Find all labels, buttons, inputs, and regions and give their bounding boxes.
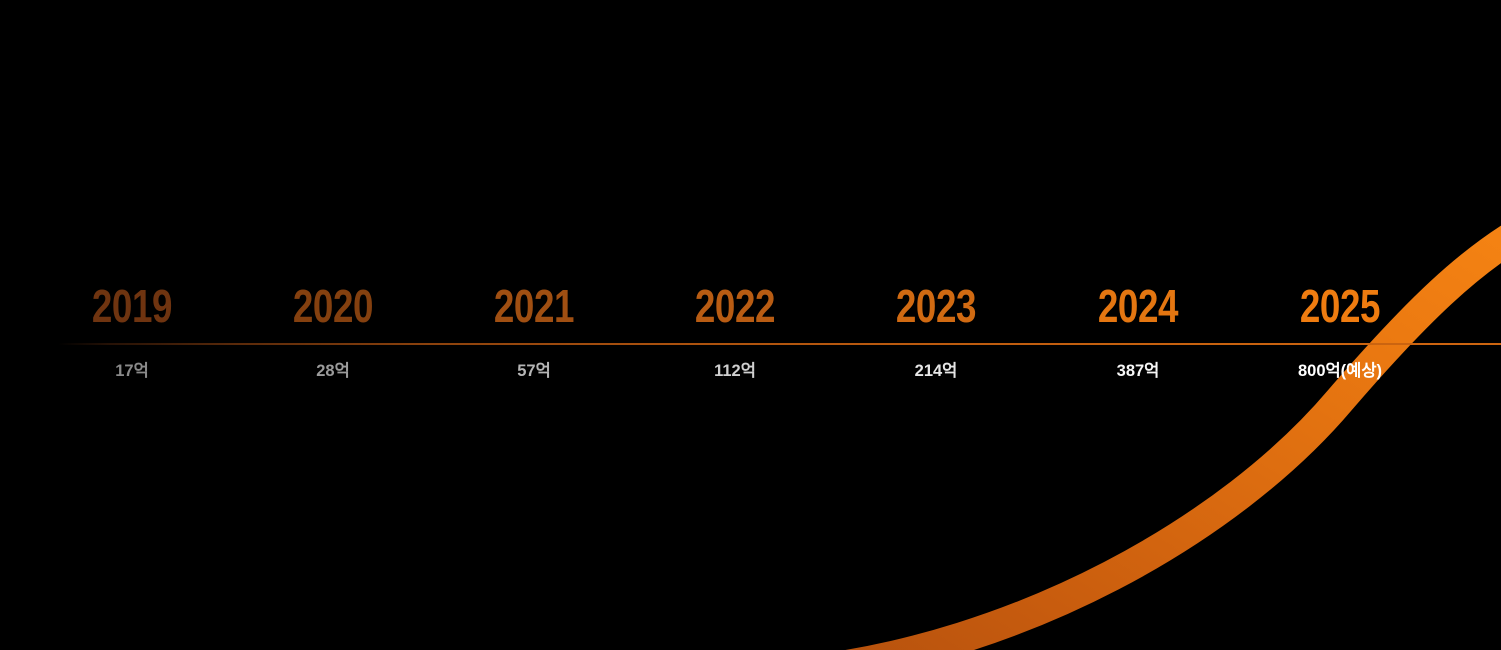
timeline-tick-2020[interactable]: 2020: [233, 283, 434, 329]
value-tick-2019: 17억: [32, 363, 233, 380]
year-label-2021: 2021: [454, 283, 615, 329]
year-label-2022: 2022: [655, 283, 816, 329]
value-label-2025: 800억(예상): [1240, 363, 1441, 380]
year-label-2023: 2023: [856, 283, 1017, 329]
timeline-tick-2023[interactable]: 2023: [836, 283, 1037, 329]
timeline-ticks: 2019 2020 2021 2022 2023 2024 2025: [0, 0, 1501, 650]
value-label-2023: 214억: [836, 363, 1037, 380]
value-label-row: 17억 28억 57억 112억 214억 387억 800억(예상): [0, 363, 1501, 385]
timeline-tick-2025[interactable]: 2025: [1240, 283, 1441, 329]
timeline-tick-2021[interactable]: 2021: [434, 283, 635, 329]
year-label-2019: 2019: [52, 283, 213, 329]
value-label-2024: 387억: [1038, 363, 1239, 380]
value-tick-2023: 214억: [836, 363, 1037, 380]
year-label-2025: 2025: [1260, 283, 1421, 329]
year-label-2024: 2024: [1058, 283, 1219, 329]
value-tick-2025: 800억(예상): [1240, 363, 1441, 380]
timeline-tick-2022[interactable]: 2022: [635, 283, 836, 329]
value-label-2022: 112억: [635, 363, 836, 380]
value-tick-2020: 28억: [233, 363, 434, 380]
value-label-2019: 17억: [32, 363, 233, 380]
growth-timeline-chart: 2019 2020 2021 2022 2023 2024 2025: [0, 0, 1501, 650]
timeline-tick-2019[interactable]: 2019: [32, 283, 233, 329]
value-tick-2021: 57억: [434, 363, 635, 380]
year-label-2020: 2020: [253, 283, 414, 329]
value-tick-2024: 387억: [1038, 363, 1239, 380]
value-tick-2022: 112억: [635, 363, 836, 380]
value-label-2020: 28억: [233, 363, 434, 380]
value-label-2021: 57억: [434, 363, 635, 380]
year-label-row: 2019 2020 2021 2022 2023 2024 2025: [0, 283, 1501, 333]
timeline-tick-2024[interactable]: 2024: [1038, 283, 1239, 329]
